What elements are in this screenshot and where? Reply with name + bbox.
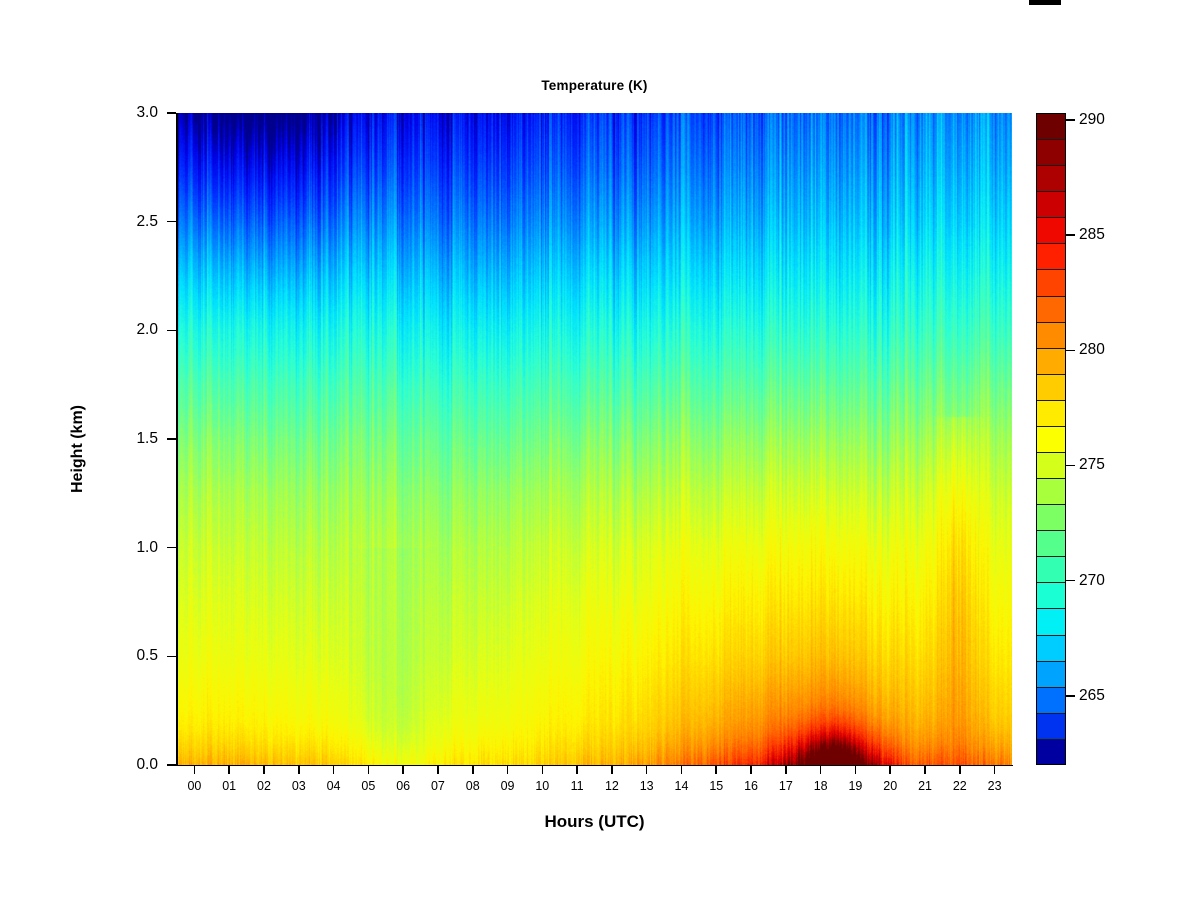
x-axis-line bbox=[176, 765, 1013, 767]
x-tick-label: 03 bbox=[284, 779, 314, 793]
heatmap-plot-area[interactable] bbox=[177, 113, 1012, 765]
colorbar-tick-label: 270 bbox=[1079, 573, 1105, 589]
colorbar-block bbox=[1037, 714, 1065, 740]
x-tick bbox=[889, 765, 891, 774]
x-tick-label: 13 bbox=[632, 779, 662, 793]
x-tick-label: 12 bbox=[597, 779, 627, 793]
heatmap-canvas[interactable] bbox=[177, 113, 1012, 765]
colorbar-tick-label: 290 bbox=[1079, 112, 1105, 128]
x-tick bbox=[855, 765, 857, 774]
colorbar-block bbox=[1037, 531, 1065, 557]
x-tick bbox=[333, 765, 335, 774]
x-tick bbox=[576, 765, 578, 774]
colorbar-block bbox=[1037, 270, 1065, 296]
colorbar-block bbox=[1037, 244, 1065, 270]
x-tick bbox=[820, 765, 822, 774]
y-tick bbox=[167, 221, 176, 223]
x-axis-title: Hours (UTC) bbox=[177, 812, 1012, 832]
colorbar-block bbox=[1037, 636, 1065, 662]
x-tick-label: 07 bbox=[423, 779, 453, 793]
x-tick bbox=[263, 765, 265, 774]
x-tick bbox=[646, 765, 648, 774]
colorbar-tick bbox=[1066, 695, 1075, 697]
x-tick-label: 21 bbox=[910, 779, 940, 793]
colorbar-block bbox=[1037, 427, 1065, 453]
colorbar-block bbox=[1037, 297, 1065, 323]
colorbar-block bbox=[1037, 609, 1065, 635]
x-tick-label: 01 bbox=[214, 779, 244, 793]
y-tick bbox=[167, 764, 176, 766]
x-tick-label: 18 bbox=[806, 779, 836, 793]
x-tick bbox=[924, 765, 926, 774]
colorbar-block bbox=[1037, 349, 1065, 375]
x-tick bbox=[785, 765, 787, 774]
x-tick bbox=[437, 765, 439, 774]
x-tick-label: 23 bbox=[980, 779, 1010, 793]
colorbar-tick bbox=[1066, 234, 1075, 236]
colorbar-tick bbox=[1066, 350, 1075, 352]
x-tick-label: 08 bbox=[458, 779, 488, 793]
colorbar-tick-label: 285 bbox=[1079, 227, 1105, 243]
colorbar-block bbox=[1037, 557, 1065, 583]
y-tick-label: 1.0 bbox=[112, 540, 158, 556]
y-axis-title: Height (km) bbox=[69, 349, 87, 549]
colorbar-block bbox=[1037, 453, 1065, 479]
x-tick bbox=[472, 765, 474, 774]
y-tick-label: 2.5 bbox=[112, 214, 158, 230]
colorbar[interactable] bbox=[1036, 113, 1066, 765]
colorbar-block bbox=[1037, 114, 1065, 140]
y-tick-label: 3.0 bbox=[112, 105, 158, 121]
x-tick-label: 09 bbox=[493, 779, 523, 793]
x-tick-label: 05 bbox=[353, 779, 383, 793]
colorbar-block bbox=[1037, 662, 1065, 688]
colorbar-block bbox=[1037, 166, 1065, 192]
x-tick-label: 19 bbox=[840, 779, 870, 793]
y-tick-label: 0.0 bbox=[112, 757, 158, 773]
x-tick-label: 14 bbox=[666, 779, 696, 793]
y-tick bbox=[167, 438, 176, 440]
y-tick bbox=[167, 547, 176, 549]
x-tick bbox=[611, 765, 613, 774]
colorbar-block bbox=[1037, 688, 1065, 714]
y-tick-label: 2.0 bbox=[112, 322, 158, 338]
x-tick bbox=[298, 765, 300, 774]
x-tick-label: 06 bbox=[388, 779, 418, 793]
x-tick bbox=[750, 765, 752, 774]
x-tick-label: 04 bbox=[319, 779, 349, 793]
x-tick bbox=[402, 765, 404, 774]
top-edge-mark bbox=[1029, 0, 1061, 5]
colorbar-block bbox=[1037, 192, 1065, 218]
x-tick-label: 22 bbox=[945, 779, 975, 793]
x-tick bbox=[228, 765, 230, 774]
colorbar-tick-label: 280 bbox=[1079, 342, 1105, 358]
x-tick bbox=[194, 765, 196, 774]
colorbar-block bbox=[1037, 218, 1065, 244]
y-tick bbox=[167, 330, 176, 332]
y-tick-label: 1.5 bbox=[112, 431, 158, 447]
x-tick-label: 20 bbox=[875, 779, 905, 793]
colorbar-block bbox=[1037, 140, 1065, 166]
colorbar-tick-label: 275 bbox=[1079, 457, 1105, 473]
x-tick bbox=[959, 765, 961, 774]
colorbar-tick bbox=[1066, 119, 1075, 121]
x-tick-label: 11 bbox=[562, 779, 592, 793]
x-tick bbox=[542, 765, 544, 774]
x-tick bbox=[994, 765, 996, 774]
colorbar-block bbox=[1037, 740, 1065, 765]
colorbar-tick bbox=[1066, 580, 1075, 582]
figure-canvas: Temperature (K) 0.00.51.01.52.02.53.0 00… bbox=[0, 0, 1200, 900]
x-tick bbox=[681, 765, 683, 774]
colorbar-block bbox=[1037, 583, 1065, 609]
x-tick-label: 17 bbox=[771, 779, 801, 793]
x-tick-label: 10 bbox=[527, 779, 557, 793]
x-tick-label: 15 bbox=[701, 779, 731, 793]
plot-title: Temperature (K) bbox=[177, 78, 1012, 93]
y-tick bbox=[167, 112, 176, 114]
y-tick bbox=[167, 656, 176, 658]
x-tick bbox=[368, 765, 370, 774]
x-tick bbox=[507, 765, 509, 774]
colorbar-block bbox=[1037, 375, 1065, 401]
x-tick-label: 16 bbox=[736, 779, 766, 793]
y-axis-line bbox=[176, 113, 178, 766]
x-tick-label: 00 bbox=[179, 779, 209, 793]
x-tick-label: 02 bbox=[249, 779, 279, 793]
colorbar-block bbox=[1037, 479, 1065, 505]
y-tick-label: 0.5 bbox=[112, 648, 158, 664]
colorbar-tick bbox=[1066, 465, 1075, 467]
colorbar-block bbox=[1037, 401, 1065, 427]
colorbar-tick-label: 265 bbox=[1079, 688, 1105, 704]
colorbar-block bbox=[1037, 323, 1065, 349]
x-tick bbox=[715, 765, 717, 774]
colorbar-block bbox=[1037, 505, 1065, 531]
